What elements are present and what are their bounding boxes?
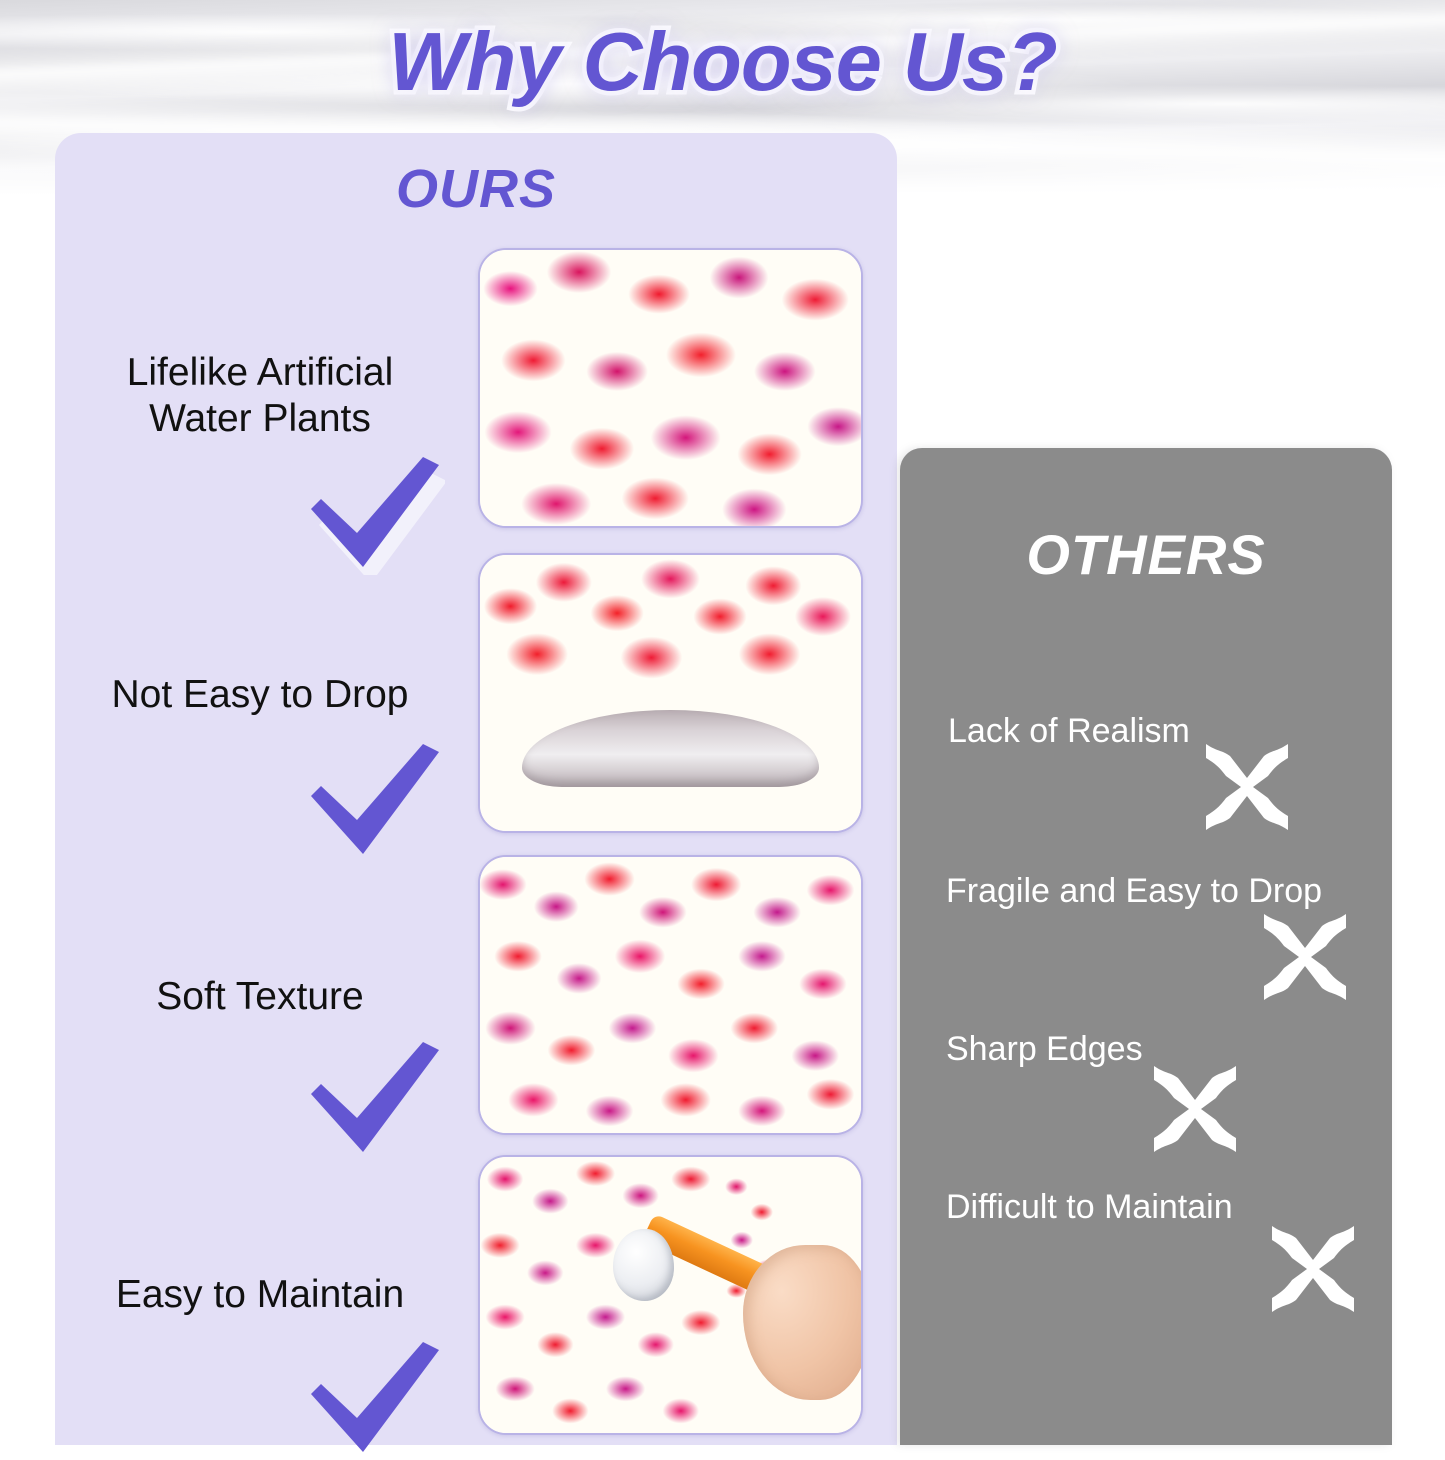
x-mark-icon — [1148, 1062, 1242, 1156]
product-photo-weighted-base — [478, 553, 863, 833]
ours-item-label-3: Soft Texture — [75, 974, 445, 1020]
product-photo-lifelike-plants — [478, 248, 863, 528]
ours-item-label-2: Not Easy to Drop — [75, 672, 445, 718]
x-mark-icon — [1200, 740, 1294, 834]
others-item-label-4: Difficult to Maintain — [946, 1188, 1233, 1227]
check-icon — [305, 1340, 445, 1460]
product-photo-easy-clean — [478, 1155, 863, 1435]
product-photo-soft-texture — [478, 855, 863, 1135]
x-mark-icon — [1266, 1222, 1360, 1316]
others-item-label-3: Sharp Edges — [946, 1030, 1143, 1069]
check-icon — [305, 742, 445, 862]
check-icon — [305, 1040, 445, 1160]
page-title: Why Choose Us? — [0, 14, 1445, 110]
ours-item-label-4: Easy to Maintain — [75, 1272, 445, 1318]
others-item-label-2: Fragile and Easy to Drop — [946, 872, 1322, 911]
check-icon — [305, 455, 445, 575]
x-mark-icon — [1258, 910, 1352, 1004]
ours-item-label-1: Lifelike Artificial Water Plants — [75, 350, 445, 442]
others-item-label-1: Lack of Realism — [948, 712, 1190, 751]
ours-heading: OURS — [55, 158, 897, 220]
others-heading: OTHERS — [900, 522, 1392, 587]
